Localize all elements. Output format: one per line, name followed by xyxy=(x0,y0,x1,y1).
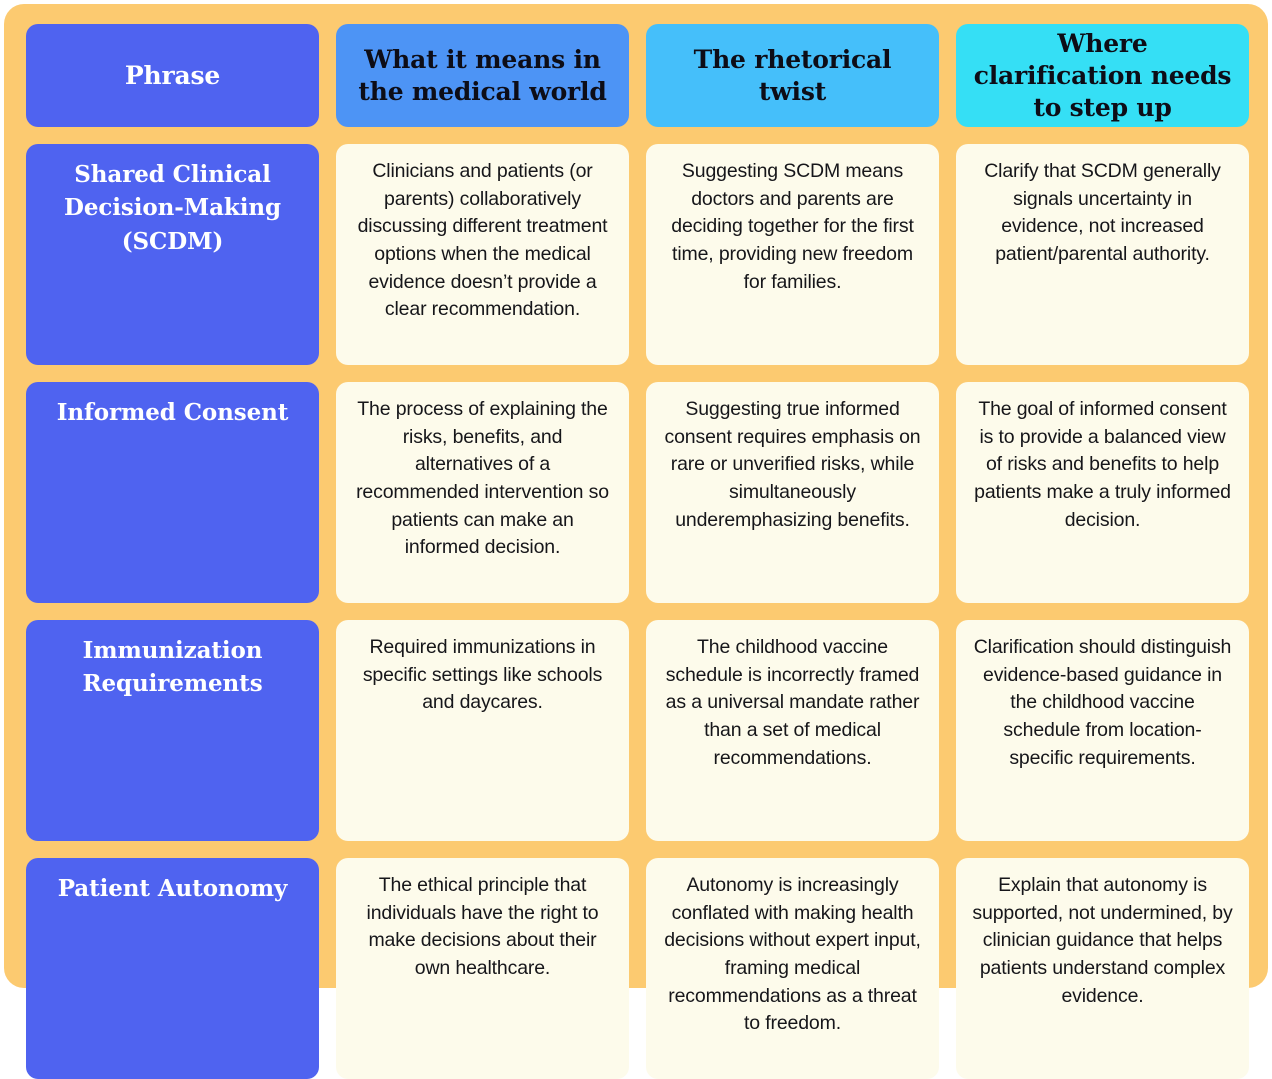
cell-text: Clinicians and patients (or parents) col… xyxy=(352,158,613,351)
table-cell-twist: Suggesting SCDM means doctors and parent… xyxy=(646,144,939,365)
cell-text: The ethical principle that individuals h… xyxy=(352,872,613,1065)
table-header-phrase: Phrase xyxy=(26,24,319,127)
header-label: Where clarification needs to step up xyxy=(970,28,1235,124)
table-cell-twist: Suggesting true informed consent require… xyxy=(646,382,939,603)
table-cell-meaning: Required immunizations in specific setti… xyxy=(336,620,629,841)
cell-text: The goal of informed consent is to provi… xyxy=(972,396,1233,589)
table-header-meaning: What it means in the medical world xyxy=(336,24,629,127)
table-row-label: Immunization Requirements xyxy=(26,620,319,841)
table-grid: Phrase What it means in the medical worl… xyxy=(26,24,1252,1079)
table-cell-clarification: Clarify that SCDM generally signals unce… xyxy=(956,144,1249,365)
cell-text: Required immunizations in specific setti… xyxy=(352,634,613,827)
table-cell-twist: The childhood vaccine schedule is incorr… xyxy=(646,620,939,841)
table-cell-clarification: Clarification should distinguish evidenc… xyxy=(956,620,1249,841)
row-phrase: Informed Consent xyxy=(44,396,301,589)
table-cell-meaning: The ethical principle that individuals h… xyxy=(336,858,629,1079)
cell-text: The process of explaining the risks, ben… xyxy=(352,396,613,589)
comparison-table: Phrase What it means in the medical worl… xyxy=(4,4,1268,988)
row-phrase: Immunization Requirements xyxy=(44,634,301,827)
table-cell-clarification: Explain that autonomy is supported, not … xyxy=(956,858,1249,1079)
table-cell-clarification: The goal of informed consent is to provi… xyxy=(956,382,1249,603)
table-row-label: Informed Consent xyxy=(26,382,319,603)
cell-text: Explain that autonomy is supported, not … xyxy=(972,872,1233,1065)
table-cell-meaning: The process of explaining the risks, ben… xyxy=(336,382,629,603)
header-label: The rhetorical twist xyxy=(660,44,925,108)
table-row-label: Shared Clinical Decision-Making (SCDM) xyxy=(26,144,319,365)
cell-text: Clarification should distinguish evidenc… xyxy=(972,634,1233,827)
header-label: Phrase xyxy=(40,60,305,92)
table-cell-meaning: Clinicians and patients (or parents) col… xyxy=(336,144,629,365)
table-header-clarification: Where clarification needs to step up xyxy=(956,24,1249,127)
table-row-label: Patient Autonomy xyxy=(26,858,319,1079)
table-header-twist: The rhetorical twist xyxy=(646,24,939,127)
cell-text: Suggesting SCDM means doctors and parent… xyxy=(662,158,923,351)
cell-text: The childhood vaccine schedule is incorr… xyxy=(662,634,923,827)
table-cell-twist: Autonomy is increasingly conflated with … xyxy=(646,858,939,1079)
row-phrase: Patient Autonomy xyxy=(44,872,301,1065)
cell-text: Autonomy is increasingly conflated with … xyxy=(662,872,923,1065)
row-phrase: Shared Clinical Decision-Making (SCDM) xyxy=(44,158,301,351)
cell-text: Clarify that SCDM generally signals unce… xyxy=(972,158,1233,351)
cell-text: Suggesting true informed consent require… xyxy=(662,396,923,589)
header-label: What it means in the medical world xyxy=(350,44,615,108)
